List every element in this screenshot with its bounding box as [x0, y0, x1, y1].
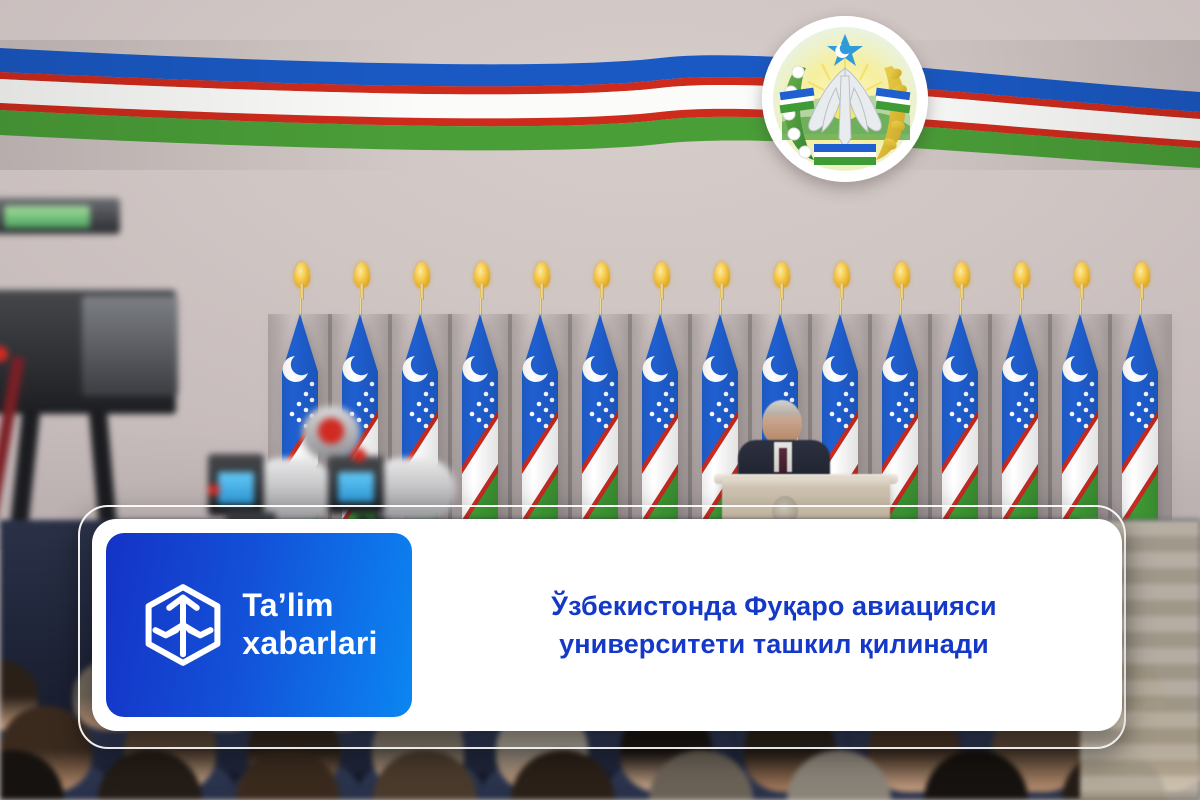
- flag-finial-icon: [474, 262, 490, 288]
- flag-finial-icon: [414, 262, 430, 288]
- uzbek-flag: [568, 262, 632, 530]
- brand-logo-text: Ta’lim xabarlari: [242, 587, 377, 663]
- headline-area: Ўзбекистонда Фуқаро авиацияси университе…: [426, 519, 1122, 731]
- flag-finial-icon: [1014, 262, 1030, 288]
- flag-cloth: [628, 314, 692, 530]
- news-card: Ta’lim xabarlari Ўзбекистонда Фуқаро ави…: [92, 519, 1122, 731]
- headline-title: Ўзбекистонда Фуқаро авиацияси университе…: [551, 587, 996, 664]
- flag-finial-icon: [954, 262, 970, 288]
- cube-logo-icon: [140, 582, 226, 668]
- flag-cloth: [928, 314, 992, 530]
- uzbekistan-state-emblem-icon: [762, 16, 928, 182]
- uzbek-flag: [928, 262, 992, 530]
- flag-finial-icon: [894, 262, 910, 288]
- flag-finial-icon: [534, 262, 550, 288]
- headline-line2: университети ташкил қилинади: [559, 629, 989, 659]
- flag-cloth: [1108, 314, 1172, 530]
- uzbek-flag: [988, 262, 1052, 530]
- flag-finial-icon: [1074, 262, 1090, 288]
- brand-logo-line1: Ta’lim: [242, 587, 377, 625]
- uzbek-flag: [628, 262, 692, 530]
- flag-ribbon-banner: [0, 40, 1200, 170]
- flag-finial-icon: [834, 262, 850, 288]
- headline-line1: Ўзбекистонда Фуқаро авиацияси: [551, 591, 996, 621]
- flag-finial-icon: [594, 262, 610, 288]
- flag-cloth: [568, 314, 632, 530]
- flag-finial-icon: [1134, 262, 1150, 288]
- flag-finial-icon: [774, 262, 790, 288]
- uzbek-flag: [1108, 262, 1172, 530]
- uzbek-flag: [508, 262, 572, 530]
- camera-1: [0, 170, 196, 530]
- flag-finial-icon: [354, 262, 370, 288]
- broadcast-cameras: [0, 170, 340, 530]
- flag-cloth: [988, 314, 1052, 530]
- flag-cloth: [1048, 314, 1112, 530]
- brand-logo-panel[interactable]: Ta’lim xabarlari: [106, 533, 412, 717]
- brand-logo-line2: xabarlari: [242, 625, 377, 663]
- news-card-image: Ta’lim xabarlari Ўзбекистонда Фуқаро ави…: [0, 0, 1200, 800]
- flag-finial-icon: [714, 262, 730, 288]
- speaker-tie: [779, 448, 787, 474]
- flag-finial-icon: [654, 262, 670, 288]
- flag-cloth: [508, 314, 572, 530]
- uzbek-flag: [1048, 262, 1112, 530]
